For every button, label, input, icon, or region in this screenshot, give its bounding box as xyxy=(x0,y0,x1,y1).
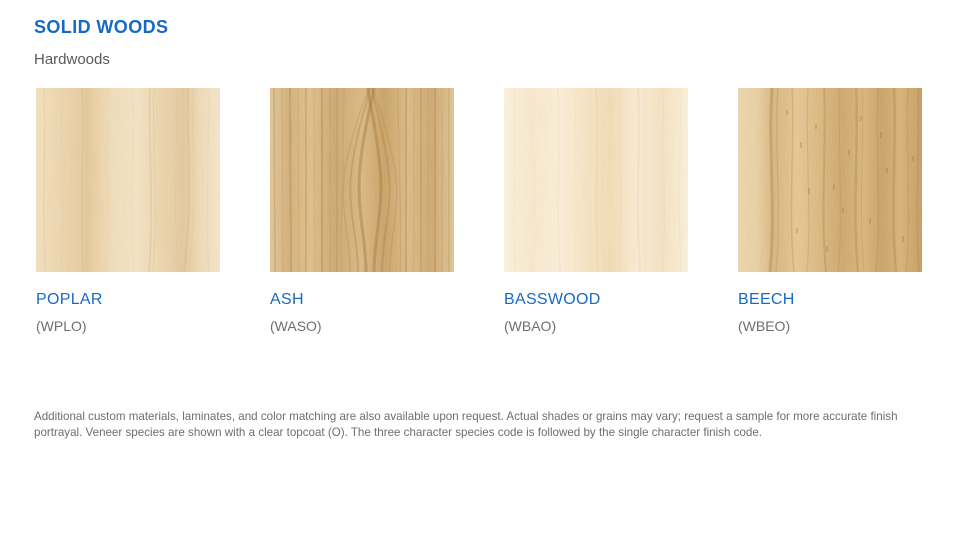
ash-grain-svg xyxy=(270,88,454,272)
wood-swatch-card[interactable]: ASH (WASO) xyxy=(270,88,454,272)
wood-swatch-card[interactable]: POPLAR (WPLO) xyxy=(36,88,220,272)
wood-swatch-name: BEECH xyxy=(738,290,795,310)
beech-grain-svg xyxy=(738,88,922,272)
page-title: SOLID WOODS xyxy=(34,16,168,38)
solid-woods-page: SOLID WOODS Hardwoods xyxy=(0,0,970,560)
wood-swatch-code: (WBAO) xyxy=(504,317,556,335)
basswood-grain-svg xyxy=(504,88,688,272)
ash-wood-grain-image xyxy=(270,88,454,272)
disclaimer-note: Additional custom materials, laminates, … xyxy=(34,409,912,441)
beech-wood-grain-image xyxy=(738,88,922,272)
basswood-wood-grain-image xyxy=(504,88,688,272)
poplar-wood-grain-image xyxy=(36,88,220,272)
wood-swatch-card[interactable]: BASSWOOD (WBAO) xyxy=(504,88,688,272)
wood-swatch-code: (WBEO) xyxy=(738,317,790,335)
wood-swatch-name: ASH xyxy=(270,290,304,310)
wood-swatch-code: (WPLO) xyxy=(36,317,87,335)
wood-swatch-name: BASSWOOD xyxy=(504,290,601,310)
poplar-grain-svg xyxy=(36,88,220,272)
wood-swatch-code: (WASO) xyxy=(270,317,322,335)
wood-swatch-grid: POPLAR (WPLO) xyxy=(36,88,936,348)
section-subtitle: Hardwoods xyxy=(34,50,110,70)
wood-swatch-name: POPLAR xyxy=(36,290,103,310)
wood-swatch-card[interactable]: BEECH (WBEO) xyxy=(738,88,922,272)
